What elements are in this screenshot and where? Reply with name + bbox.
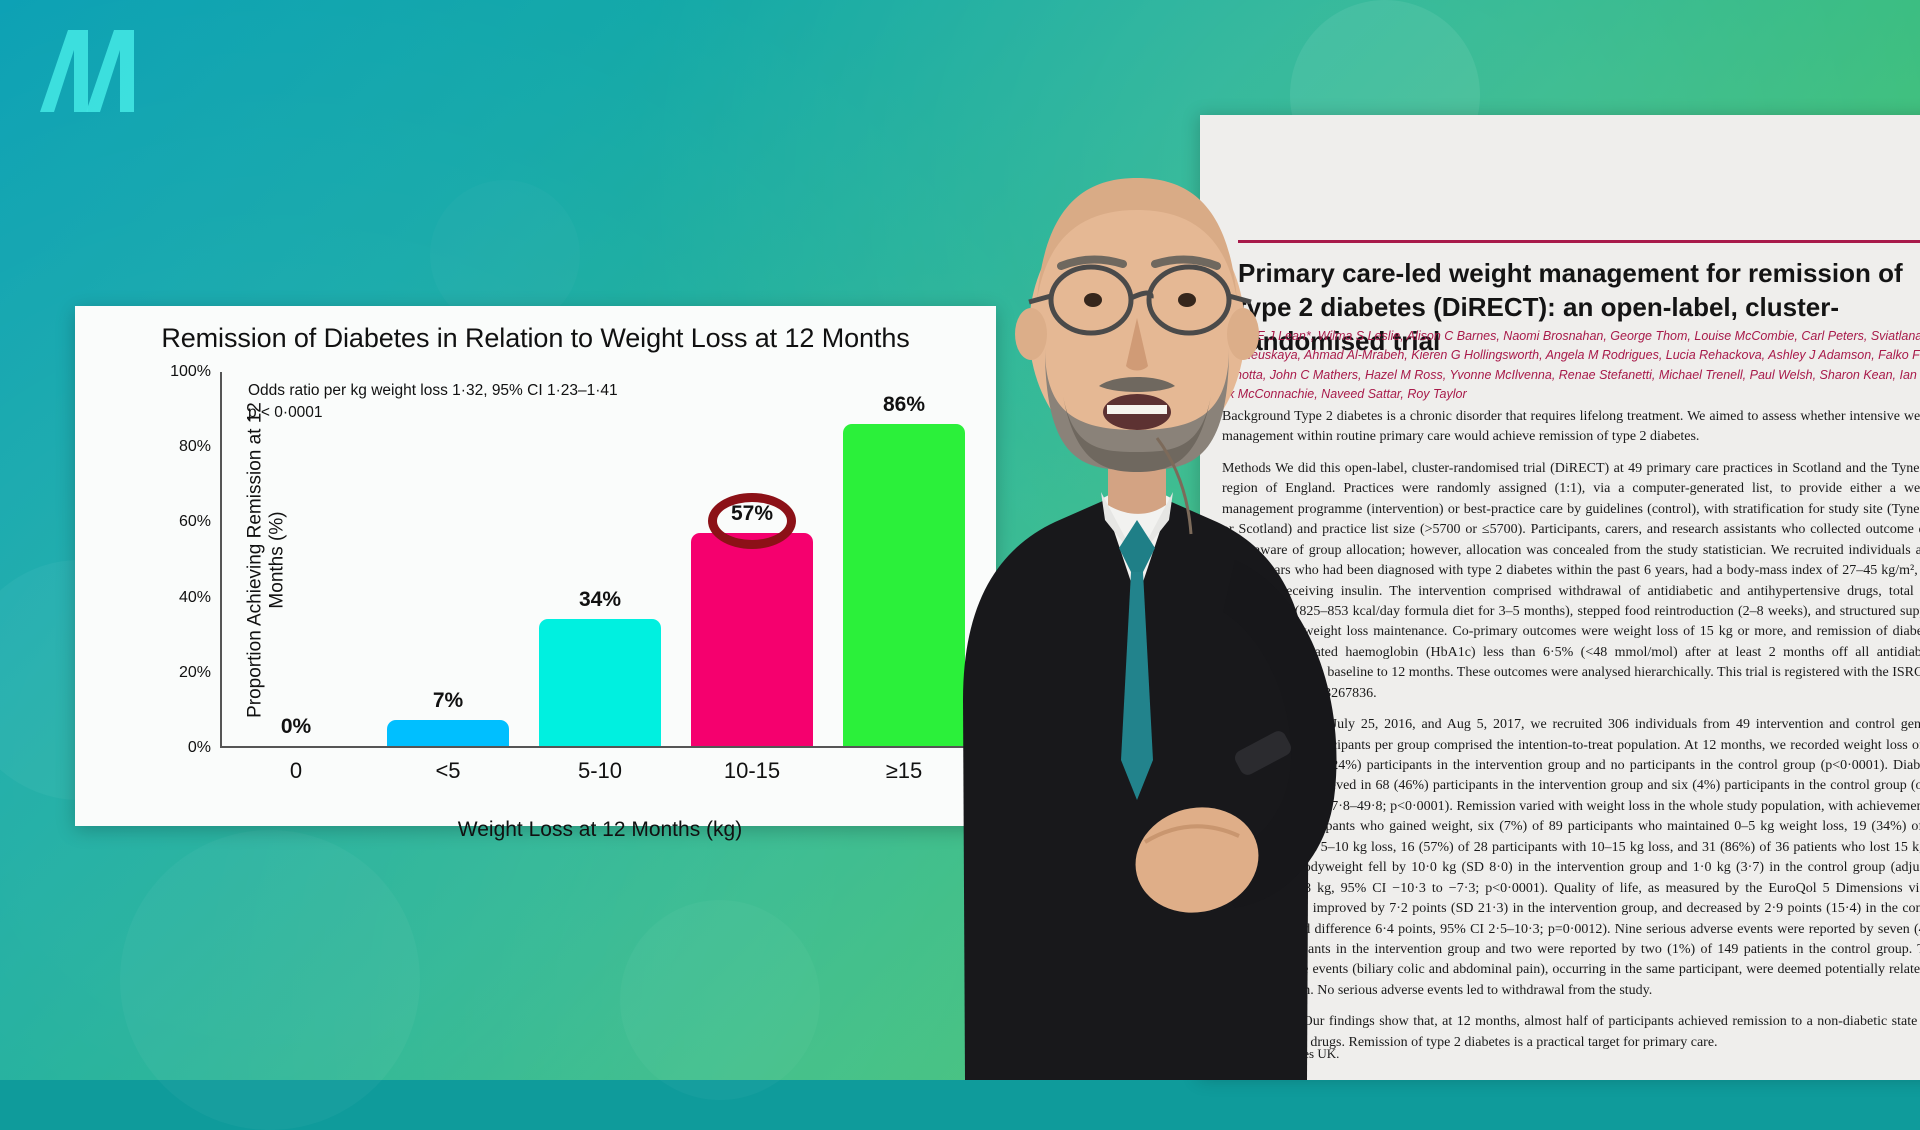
y-tick-label: 80% (179, 438, 211, 456)
bar-value-label: 0% (281, 715, 311, 739)
x-axis-line (220, 746, 980, 748)
presenter-figure (905, 0, 1365, 1080)
y-tick-label: 0% (188, 739, 211, 757)
y-tick-label: 100% (170, 363, 211, 381)
y-tick-label: 20% (179, 664, 211, 682)
bar-2[interactable]: 34% (539, 619, 661, 746)
bar-1[interactable]: 7% (387, 720, 509, 746)
x-tick-label: 0 (290, 758, 302, 784)
bar-slot-0: 0% 0 (220, 372, 372, 746)
y-tick-label: 60% (179, 513, 211, 531)
chart-title: Remission of Diabetes in Relation to Wei… (75, 323, 996, 354)
bar-3[interactable]: 57% (691, 533, 813, 746)
bar-slot-2: 34% 5-10 (524, 372, 676, 746)
x-tick-label: 5-10 (578, 758, 622, 784)
bar-slot-1: 7% <5 (372, 372, 524, 746)
bar-series: 0% 0 7% <5 34% 5-10 57% (220, 372, 980, 746)
bokeh-circle (120, 830, 420, 1130)
x-tick-label: <5 (435, 758, 460, 784)
bokeh-circle (620, 900, 820, 1100)
plot-area: Proportion Achieving Remission at 12 Mon… (220, 372, 980, 748)
nutritionfacts-n-logo (34, 24, 144, 116)
bar-value-label: 34% (579, 588, 621, 612)
x-axis-label: Weight Loss at 12 Months (kg) (220, 818, 980, 842)
bar-value-label: 57% (731, 502, 773, 526)
bar-slot-3: 57% 10-15 (676, 372, 828, 746)
y-tick-label: 40% (179, 589, 211, 607)
chart-panel: Remission of Diabetes in Relation to Wei… (75, 306, 996, 826)
bar-value-label: 7% (433, 689, 463, 713)
x-tick-label: 10-15 (724, 758, 780, 784)
